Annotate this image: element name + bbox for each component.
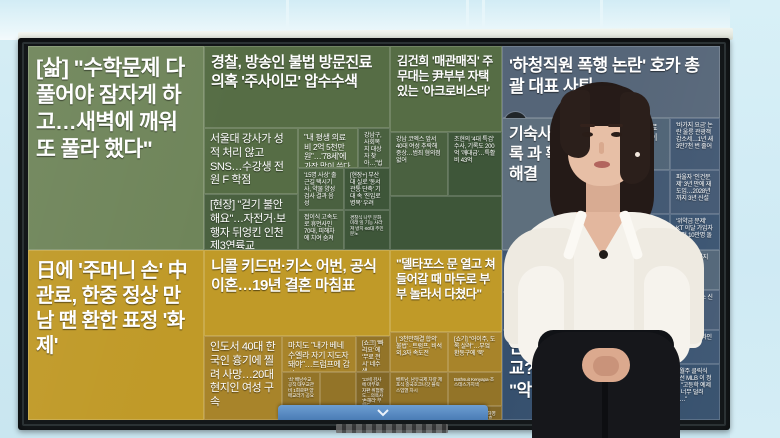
treemap-block-gold-b[interactable]: 니콜 키드먼·키스 어번, 공식 이혼…19년 결혼 마침표 인도서 40대 한… <box>204 250 390 420</box>
headline-tile[interactable]: 경찰식 나무 문화 미래 잎 기능 사라져 방치·60대 주민 분노 <box>344 210 390 250</box>
headline-tile[interactable] <box>320 372 356 406</box>
headline-tile[interactable]: Bathsuit Kenyapa·조 스테스가지색 <box>448 372 502 406</box>
headline-tile[interactable]: '15명 사상' 출근길 택시기사, 약물 양성 검사 결과 음성 <box>298 168 344 210</box>
treemap-block-green-b[interactable]: 경찰, 방송인 불법 방문진료 의혹 '주사이모' 압수수색 서울대 강사가 성… <box>204 46 390 250</box>
anchor-leg-gap <box>602 382 608 438</box>
anchor-eyebrow-right <box>608 124 623 127</box>
headline-green-a[interactable]: [삶] "수학문제 다 풀어야 잠자게 하고…새벽에 깨워 또 풀라 했다" <box>28 46 204 250</box>
headline-tile[interactable]: "내 평생 의료비 2억 5천만원"…'78세'에 가장 많이 쓴다 <box>298 128 358 168</box>
treemap-block-gold-a[interactable]: 日에 '주머니 손' 中관료, 한중 정상 만남 땐 환한 표정 '화제' <box>28 250 204 420</box>
headline-gold-b[interactable]: 니콜 키드먼·키스 어번, 공식 이혼…19년 결혼 마침표 <box>204 250 390 336</box>
anchor-earring <box>635 152 640 157</box>
headline-tile[interactable]: [현장+] 부산대 실로 '동서 관통 단축' 기대 속 '진입로 병목' 우려 <box>344 168 390 210</box>
headline-tile[interactable]: 조현의 '4대 특검' 수사, 기록도 200억 '깨대급'…특활비 43억 <box>448 132 502 196</box>
headline-tile[interactable]: [쇼크] '빠리요' 에 '무료 전시' 네수 색 <box>356 336 390 372</box>
treemap-block-green-a[interactable]: [삶] "수학문제 다 풀어야 잠자게 하고…새벽에 깨워 또 풀라 했다" <box>28 46 204 250</box>
lapel-microphone <box>599 250 608 259</box>
headline-tile[interactable]: 인도서 40대 한국인 흉기에 찔려 사망…20대 현지인 여성 구속 <box>204 336 282 420</box>
headline-green-b[interactable]: 경찰, 방송인 불법 방문진료 의혹 '주사이모' 압수수색 <box>204 46 390 128</box>
headline-tile[interactable]: | '3천만해결 합의' 불법' · 트럼프, 비석외,3자 속도전 <box>390 332 448 372</box>
news-anchor <box>498 60 708 438</box>
headline-green-c[interactable]: 김건희 '매관매직' 주무대는 尹부부 자택 있는 '아크로비스타' <box>390 46 502 132</box>
anchor-mouth <box>594 161 610 168</box>
headline-tile[interactable]: 서울대 강사가 성적 처리 않고 SNS…수강생 전원 F 학점 <box>204 128 298 194</box>
chevron-down-icon <box>377 409 389 417</box>
anchor-hair-right <box>620 92 650 184</box>
headline-tile[interactable] <box>390 196 502 250</box>
headline-gold-a[interactable]: 日에 '주머니 손' 中관료, 한중 정상 만남 땐 환한 표정 '화제' <box>28 250 204 420</box>
headline-tile[interactable]: 강남구, 사회복지 대상자 찾아…"법적 지원 연계" <box>358 128 390 168</box>
screenshot-stage: [삶] "수학문제 다 풀어야 잠자게 하고…새벽에 깨워 또 풀라 했다" 경… <box>0 0 780 438</box>
treemap-block-gold-c[interactable]: "델타포스 문 열고 쳐들어갈 때 마두로 부부 놀라서 다쳤다" | '3천만… <box>390 250 502 420</box>
headline-tile[interactable]: [쇼기] "어이주, 도록 살려"…부엌 환동구에 '북' <box>448 332 502 372</box>
anchor-eye-right <box>611 132 622 137</box>
lower-third-strip <box>336 424 448 433</box>
anchor-hands-shadow <box>593 356 619 376</box>
anchor-nose <box>599 142 604 154</box>
headline-gold-c[interactable]: "델타포스 문 열고 쳐들어갈 때 마두로 부부 놀라서 다쳤다" <box>390 250 502 332</box>
expand-more-button[interactable] <box>278 405 488 420</box>
treemap-block-green-c[interactable]: 김건희 '매관매직' 주무대는 尹부부 자택 있는 '아크로비스타' 강남 코엑… <box>390 46 502 250</box>
headline-tile[interactable]: 강남 코엑스 앞서 40대 여성 추락해 중상…범죄 혐의점 없어 <box>390 132 448 196</box>
headline-tile[interactable]: 베트남, 남유국제 차량 제포식 중국호크나갓 플릭스입열 차시 <box>390 372 448 406</box>
headline-tile[interactable]: [현장] "걷기 불안해요"…자전거·보행자 뒤엉킨 인천 제3연륙교 <box>204 194 298 250</box>
headline-tile[interactable]: '쇠' 배낭수교 공직 대우교관 비 1회로판 양 매교라기 공요 <box>282 372 320 406</box>
studio-wall-right <box>730 0 780 438</box>
anchor-eye-left <box>582 132 593 137</box>
headline-tile[interactable]: 마치도 "내가 베네수엘라 자기 지도자 돼야"…트럼프에 감사" <box>282 336 356 372</box>
headline-tile[interactable]: '13세 검사에 마무로 자판 위험할도…의욕사 '손해리' 부문도 <box>356 372 390 406</box>
headline-tile[interactable]: 접이식 고속도로 휴먼사인 70대, 피해차에 치여 숨져 <box>298 210 344 250</box>
anchor-eyebrow-left <box>580 124 595 127</box>
